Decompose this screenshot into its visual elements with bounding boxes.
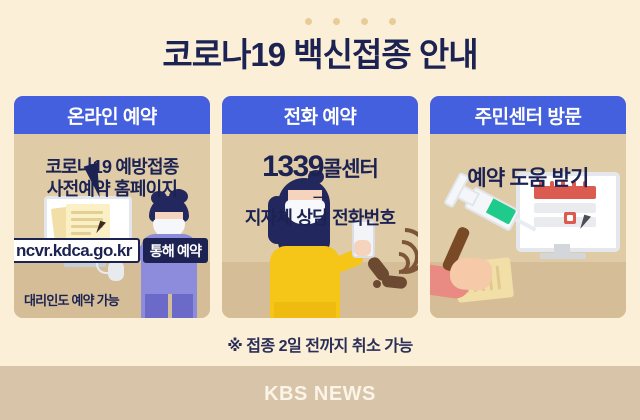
card-community-center-visit: 주민센터 방문 (430, 96, 626, 318)
woman-skirt (274, 302, 336, 318)
card-phone-reservation: 전화 예약 (222, 96, 418, 318)
decorative-dots (305, 18, 400, 28)
dot-4 (389, 18, 396, 25)
cards-row: 온라인 예약 (14, 96, 626, 318)
mouse-icon (108, 260, 124, 281)
dot-1 (305, 18, 312, 25)
page-title: 코로나19 백신접종 안내 (0, 28, 640, 76)
card-2-line-3: 지자체 상담 전화번호 (222, 204, 418, 230)
infographic-canvas: 코로나19 백신접종 안내 온라인 예약 (0, 0, 640, 420)
card-1-header: 온라인 예약 (14, 96, 210, 134)
card-3-header: 주민센터 방문 (430, 96, 626, 134)
number-value: 1339 (262, 150, 323, 183)
number-suffix: 콜센터 (323, 158, 378, 181)
monitor-base (540, 253, 586, 259)
card-2-body: 1339콜센터 — 지자체 상담 전화번호 (222, 134, 418, 318)
card-online-reservation: 온라인 예약 (14, 96, 210, 318)
card-1-caption: 대리인도 예약 가능 (24, 290, 119, 309)
leg-gap (168, 294, 172, 318)
card-3-line-1: 예약 도움 받기 (430, 162, 626, 192)
card-3-body: 예약 도움 받기 (430, 134, 626, 318)
handset-dot (373, 280, 381, 288)
call-center-number: 1339콜센터 (222, 150, 418, 184)
dot-2 (333, 18, 340, 25)
kbs-news-logo: KBS NEWS (0, 383, 640, 406)
url-badge[interactable]: ncvr.kdca.go.kr 통해 예약 (14, 238, 208, 263)
url-suffix-tag: 통해 예약 (143, 238, 208, 263)
card-2-header: 전화 예약 (222, 96, 418, 134)
card-2-separator: — (222, 188, 418, 204)
footnote: ※ 접종 2일 전까지 취소 가능 (0, 332, 640, 356)
footer-bar: KBS NEWS (0, 366, 640, 420)
woman-hand (354, 240, 371, 256)
dot-3 (361, 18, 368, 25)
card-1-body: 코로나19 예방접종 사전예약 홈페이지 ncvr.kdca.go.kr 통해 … (14, 134, 210, 318)
calendar-selected-date (564, 212, 576, 224)
url-text[interactable]: ncvr.kdca.go.kr (14, 238, 140, 263)
card-1-line-2: 사전예약 홈페이지 (14, 175, 210, 201)
